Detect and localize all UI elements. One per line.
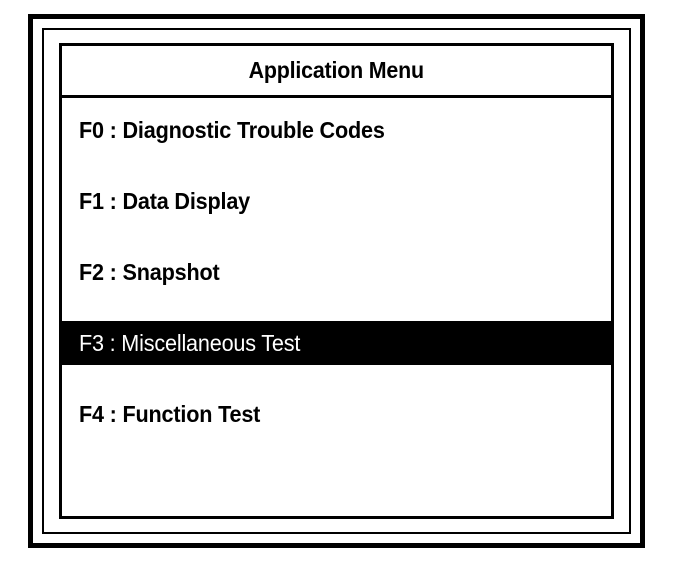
screen-bezel-outer: Application Menu F0 : Diagnostic Trouble… bbox=[28, 14, 645, 548]
device-screen: Application Menu F0 : Diagnostic Trouble… bbox=[0, 0, 688, 572]
menu-item-f2[interactable]: F2 : Snapshot bbox=[62, 250, 611, 294]
page-title: Application Menu bbox=[249, 57, 424, 84]
menu-item-f4[interactable]: F4 : Function Test bbox=[62, 392, 611, 436]
application-menu-panel: Application Menu F0 : Diagnostic Trouble… bbox=[59, 43, 614, 519]
screen-bezel-middle: Application Menu F0 : Diagnostic Trouble… bbox=[42, 28, 631, 534]
menu-item-label: F2 : Snapshot bbox=[79, 259, 220, 286]
menu-item-f3[interactable]: F3 : Miscellaneous Test bbox=[62, 321, 611, 365]
menu-item-label: F0 : Diagnostic Trouble Codes bbox=[79, 117, 385, 144]
menu-item-label: F3 : Miscellaneous Test bbox=[79, 330, 300, 357]
menu-item-f1[interactable]: F1 : Data Display bbox=[62, 179, 611, 223]
menu-title-bar: Application Menu bbox=[62, 46, 611, 98]
menu-item-label: F4 : Function Test bbox=[79, 401, 260, 428]
menu-item-f0[interactable]: F0 : Diagnostic Trouble Codes bbox=[62, 108, 611, 152]
menu-item-label: F1 : Data Display bbox=[79, 188, 250, 215]
menu-list: F0 : Diagnostic Trouble Codes F1 : Data … bbox=[62, 98, 611, 516]
